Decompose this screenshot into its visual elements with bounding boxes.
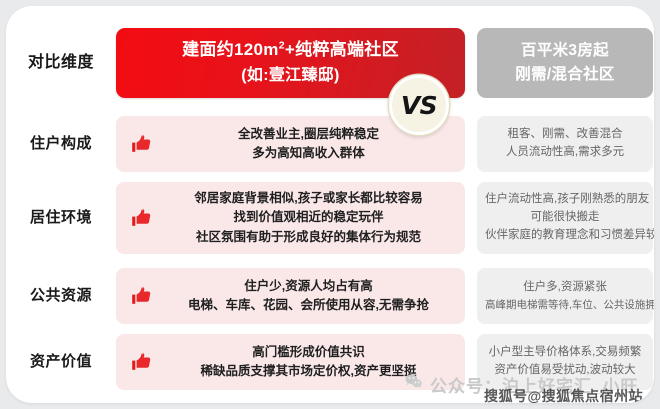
row-3-premium-line-1: 稀缺品质支撑其市场定价权,资产更坚挺 — [162, 362, 455, 381]
comparison-card: 对比维度 建面约120m2+纯粹高端社区 (如:壹江臻邸) 百平米3房起 刚需/… — [6, 6, 654, 403]
header-cell-standard: 百平米3房起 刚需/混合社区 — [477, 28, 653, 98]
table-row: 公共资源 住户少,资源人均占有高 电梯、车库、花园、会所使用从容,无需争抢 住户… — [6, 268, 654, 324]
row-label-3: 资产价值 — [6, 353, 116, 371]
row-3-standard-line-0: 小户型主导价格体系,交易频繁 — [485, 344, 645, 362]
row-2-premium-line-0: 住户少,资源人均占有高 — [162, 277, 455, 296]
thumbs-up-icon — [130, 350, 154, 374]
row-3-premium-text: 高门槛形成价值共识 稀缺品质支撑其市场定价权,资产更坚挺 — [162, 343, 455, 382]
table-row: 资产价值 高门槛形成价值共识 稀缺品质支撑其市场定价权,资产更坚挺 小户型主导价… — [6, 334, 654, 390]
row-0-premium-line-1: 多为高知高收入群体 — [162, 144, 455, 163]
thumbs-up-icon — [130, 206, 154, 230]
row-0-standard-cell: 租客、刚需、改善混合 人员流动性高,需求多元 — [477, 116, 653, 172]
row-2-standard-cell: 住户多,资源紧张 高峰期电梯需等待,车位、公共设施拥挤 — [477, 268, 653, 324]
row-3-premium-line-0: 高门槛形成价值共识 — [162, 343, 455, 362]
row-1-standard-text: 住户流动性高,孩子刚熟悉的朋友 可能很快搬走 伙伴家庭的教育理念和习惯差异较大 — [485, 191, 645, 244]
header-standard-line1: 百平米3房起 — [521, 39, 609, 63]
row-1-standard-line-2: 伙伴家庭的教育理念和习惯差异较大 — [485, 227, 645, 245]
row-2-premium-line-1: 电梯、车库、花园、会所使用从容,无需争抢 — [162, 296, 455, 315]
row-3-standard-line-1: 资产价值易受扰动,波动较大 — [485, 362, 645, 380]
dimension-column-header: 对比维度 — [6, 53, 116, 72]
header-premium-line1: 建面约120m2+纯粹高端社区 — [182, 37, 399, 63]
row-1-premium-line-0: 邻居家庭背景相似,孩子或家长都比较容易 — [162, 189, 455, 208]
row-label-2: 公共资源 — [6, 287, 116, 305]
row-3-standard-cell: 小户型主导价格体系,交易频繁 资产价值易受扰动,波动较大 — [477, 334, 653, 390]
row-2-standard-line-1: 高峰期电梯需等待,车位、公共设施拥挤 — [485, 297, 645, 313]
table-row: 住户构成 全改善业主,圈层纯粹稳定 多为高知高收入群体 租客、刚需、改善混合 人… — [6, 116, 654, 172]
row-3-premium-cell: 高门槛形成价值共识 稀缺品质支撑其市场定价权,资产更坚挺 — [116, 334, 465, 390]
row-2-premium-text: 住户少,资源人均占有高 电梯、车库、花园、会所使用从容,无需争抢 — [162, 277, 455, 316]
header-premium-tail: +纯粹高端社区 — [285, 40, 399, 59]
row-3-standard-text: 小户型主导价格体系,交易频繁 资产价值易受扰动,波动较大 — [485, 344, 645, 380]
header-premium-area: 建面约120m — [182, 40, 279, 59]
thumbs-up-icon — [130, 284, 154, 308]
row-1-premium-line-2: 社区氛围有助于形成良好的集体行为规范 — [162, 228, 455, 247]
table-row: 居住环境 邻居家庭背景相似,孩子或家长都比较容易 找到价值观相近的稳定玩伴 社区… — [6, 182, 654, 254]
row-1-premium-cell: 邻居家庭背景相似,孩子或家长都比较容易 找到价值观相近的稳定玩伴 社区氛围有助于… — [116, 182, 465, 254]
row-0-standard-line-0: 租客、刚需、改善混合 — [485, 126, 645, 144]
vs-badge: VS — [389, 75, 449, 135]
row-0-standard-text: 租客、刚需、改善混合 人员流动性高,需求多元 — [485, 126, 645, 162]
row-label-1: 居住环境 — [6, 209, 116, 227]
thumbs-up-icon — [130, 132, 154, 156]
row-label-0: 住户构成 — [6, 135, 116, 153]
row-2-standard-text: 住户多,资源紧张 高峰期电梯需等待,车位、公共设施拥挤 — [485, 279, 645, 313]
row-2-standard-line-0: 住户多,资源紧张 — [485, 279, 645, 297]
row-2-premium-cell: 住户少,资源人均占有高 电梯、车库、花园、会所使用从容,无需争抢 — [116, 268, 465, 324]
row-1-standard-cell: 住户流动性高,孩子刚熟悉的朋友 可能很快搬走 伙伴家庭的教育理念和习惯差异较大 — [477, 182, 653, 254]
row-1-premium-text: 邻居家庭背景相似,孩子或家长都比较容易 找到价值观相近的稳定玩伴 社区氛围有助于… — [162, 189, 455, 247]
header-premium-line2: (如:壹江臻邸) — [241, 64, 339, 89]
row-0-standard-line-1: 人员流动性高,需求多元 — [485, 144, 645, 162]
row-1-standard-line-1: 可能很快搬走 — [485, 209, 645, 227]
row-1-standard-line-0: 住户流动性高,孩子刚熟悉的朋友 — [485, 191, 645, 209]
header-row: 对比维度 建面约120m2+纯粹高端社区 (如:壹江臻邸) 百平米3房起 刚需/… — [6, 24, 654, 102]
vs-badge-label: VS — [401, 91, 437, 120]
row-1-premium-line-1: 找到价值观相近的稳定玩伴 — [162, 208, 455, 227]
header-standard-line2: 刚需/混合社区 — [515, 63, 614, 87]
